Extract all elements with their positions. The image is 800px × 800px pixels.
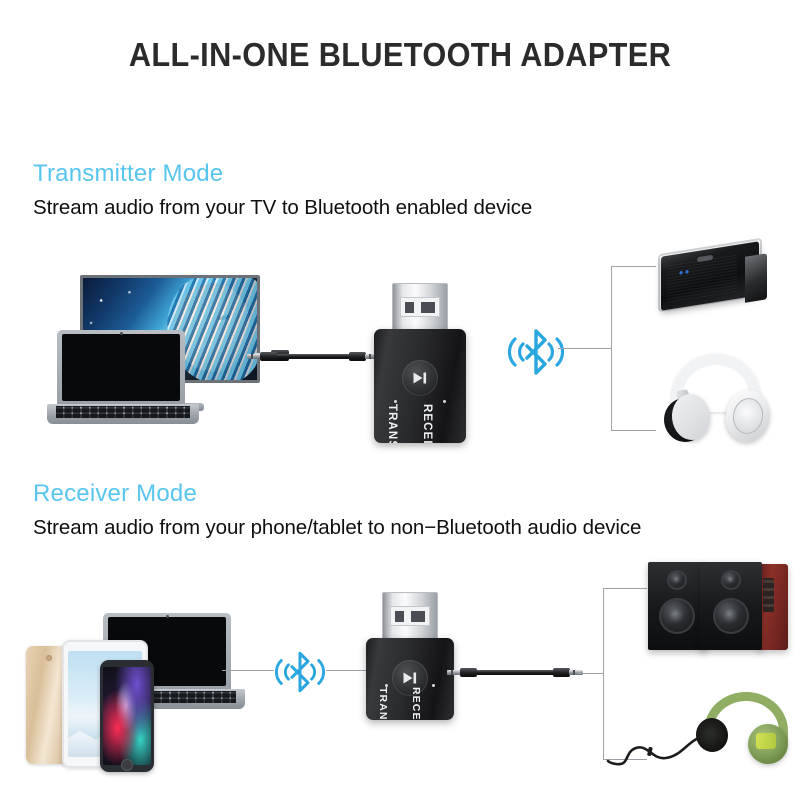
speaker-wood-cabinet [758, 564, 788, 650]
connector-line-vertical [603, 588, 604, 760]
adapter-body: TRANSMIT RECEIVE [366, 638, 454, 720]
usb-a-plug-icon [382, 592, 438, 644]
connector-line-to-headphones [611, 430, 656, 431]
usb-plug-contacts [400, 297, 440, 317]
speaker-tweeter [667, 570, 687, 590]
headphone-earcup-right [748, 724, 788, 764]
laptop-lid [57, 330, 185, 404]
laptop-base [47, 404, 199, 424]
adapter-label-transmit: TRANSMIT [377, 687, 389, 720]
page-title: ALL-IN-ONE BLUETOOTH ADAPTER [28, 36, 772, 74]
aux-cable-barrel [553, 668, 570, 677]
usb-bluetooth-adapter[interactable]: TRANSMIT RECEIVE [366, 592, 454, 720]
laptop-screen [62, 334, 180, 401]
usb-bluetooth-adapter[interactable]: TRANSMIT RECEIVE [374, 283, 466, 443]
usb-plug-contacts [390, 606, 430, 626]
headphone-cord [608, 730, 704, 770]
aux-cable-barrel [460, 668, 477, 677]
connector-line-trunk [558, 348, 612, 349]
usb-a-plug-icon [392, 283, 448, 335]
transmitter-laptop [47, 330, 199, 426]
wired-headphones [690, 690, 796, 776]
bookshelf-speakers [648, 562, 796, 658]
adapter-label-receive: RECEIVE [410, 687, 422, 720]
speaker-woofer [659, 598, 695, 634]
connector-line-trunk [578, 673, 604, 674]
laptop-keyboard [56, 406, 190, 417]
receive-led-indicator [432, 684, 435, 687]
laptop-trackpad [100, 418, 146, 422]
speaker-right [700, 562, 762, 650]
aux-cable-end-left [247, 352, 277, 361]
aux-cable-tip [447, 670, 461, 675]
receiver-mode-description: Stream audio from your phone/tablet to n… [33, 514, 673, 541]
aux-cable-wire [473, 670, 557, 675]
speaker-tweeter [721, 570, 741, 590]
laptop-camera-icon [166, 615, 169, 618]
aux-cable-barrel [260, 352, 277, 361]
smartphone [100, 660, 154, 772]
infographic-page: ALL-IN-ONE BLUETOOTH ADAPTER Transmitter… [0, 0, 800, 800]
aux-cable-tip [247, 354, 261, 359]
adapter-label-transmit: TRANSMIT [386, 404, 398, 443]
bluetooth-icon [272, 648, 328, 696]
adapter-body: TRANSMIT RECEIVE [374, 329, 466, 443]
transmitter-mode-heading: Transmitter Mode [33, 160, 223, 188]
phone-home-button [121, 759, 133, 771]
speaker-side-panel [745, 253, 767, 302]
bluetooth-icon [505, 325, 567, 379]
transmitter-mode-description: Stream audio from your TV to Bluetooth e… [33, 194, 532, 221]
transmit-led-indicator [394, 400, 397, 403]
receiver-aux-cable [447, 668, 583, 677]
aux-cable-end-left [447, 668, 477, 677]
wireless-headphones [660, 350, 776, 450]
aux-cable-wire [273, 354, 353, 359]
transmitter-aux-cable [247, 352, 379, 361]
connector-line-to-speaker [611, 266, 656, 267]
receiver-mode-heading: Receiver Mode [33, 480, 197, 508]
connector-line-to-speakers [603, 588, 647, 589]
adapter-label-receive: RECEIVE [421, 404, 433, 443]
receive-led-indicator [443, 400, 446, 403]
aux-cable-barrel [349, 352, 366, 361]
laptop-camera-icon [120, 332, 123, 335]
connector-line-vertical [611, 266, 612, 431]
speaker-left [648, 562, 706, 650]
speaker-woofer [713, 598, 749, 634]
phone-screen [103, 667, 151, 765]
bluetooth-speaker [655, 243, 773, 309]
connector-line-devices-to-bt [222, 670, 274, 671]
next-track-icon[interactable] [402, 360, 438, 396]
